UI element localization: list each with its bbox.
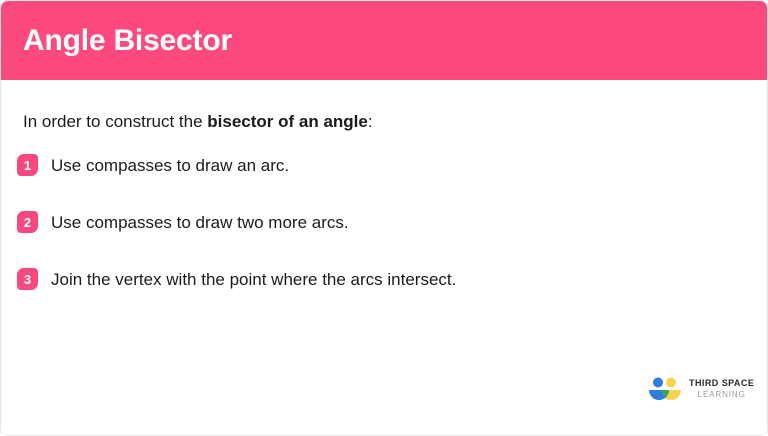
third-space-learning-logo-mark-icon [649,376,681,402]
lesson-card: Angle Bisector In order to construct the… [0,0,768,436]
step-number-badge: 1 [17,154,38,176]
brand-logo: THIRD SPACE LEARNING [649,373,753,405]
intro-emphasis: bisector of an angle [207,112,368,131]
header-banner: Angle Bisector [1,1,768,80]
step-text: Use compasses to draw an arc. [51,157,289,174]
list-item: 2 Use compasses to draw two more arcs. [17,209,747,235]
intro-trail: : [368,112,373,131]
steps-list: 1 Use compasses to draw an arc. 2 Use co… [17,152,747,323]
step-text: Join the vertex with the point where the… [51,271,456,288]
list-item: 3 Join the vertex with the point where t… [17,266,747,292]
brand-name-line2: LEARNING [698,391,746,399]
step-text: Use compasses to draw two more arcs. [51,214,349,231]
intro-lead: In order to construct the [23,112,207,131]
brand-wordmark: THIRD SPACE LEARNING [689,379,754,399]
brand-name-line1: THIRD SPACE [689,379,754,388]
step-number-badge: 2 [17,211,38,233]
list-item: 1 Use compasses to draw an arc. [17,152,747,178]
page-title: Angle Bisector [23,26,232,56]
step-number-badge: 3 [17,268,38,290]
intro-sentence: In order to construct the bisector of an… [23,110,373,134]
